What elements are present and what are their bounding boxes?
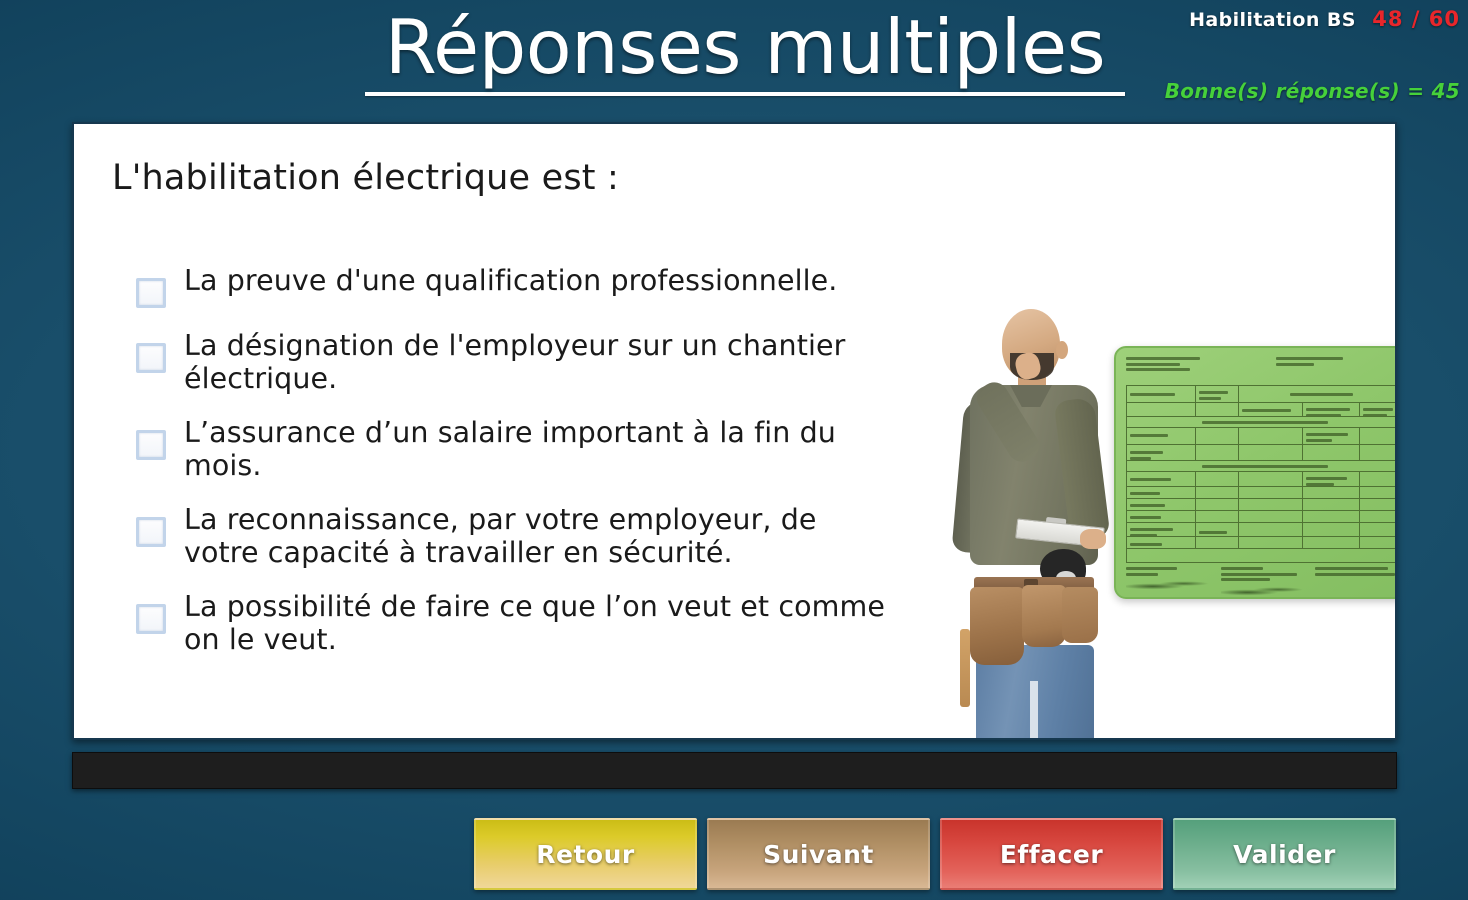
retour-button[interactable]: Retour bbox=[474, 818, 697, 890]
option-checkbox-4[interactable] bbox=[136, 517, 166, 547]
question-text: L'habilitation électrique est : bbox=[112, 158, 619, 198]
option-label-3: L’assurance d’un salaire important à la … bbox=[184, 416, 896, 482]
page-title: Réponses multiples bbox=[330, 4, 1160, 90]
option-label-4: La reconnaissance, par votre employeur, … bbox=[184, 503, 896, 569]
habilitation-card bbox=[1114, 346, 1397, 599]
option-checkbox-5[interactable] bbox=[136, 604, 166, 634]
button-bar: Retour Suivant Effacer Valider bbox=[474, 818, 1396, 890]
signature-left bbox=[1126, 578, 1215, 592]
header: Réponses multiples Habilitation BS 48 / … bbox=[0, 0, 1468, 118]
person-hand-clipboard bbox=[1080, 529, 1106, 549]
option-checkbox-1[interactable] bbox=[136, 278, 166, 308]
option-checkbox-2[interactable] bbox=[136, 343, 166, 373]
effacer-button[interactable]: Effacer bbox=[940, 818, 1163, 890]
module-score-line: Habilitation BS 48 / 60 bbox=[1130, 6, 1460, 35]
good-answers-label: Bonne(s) réponse(s) = 45 bbox=[1130, 79, 1460, 103]
tool-pouch-right bbox=[1062, 587, 1098, 643]
card-table bbox=[1126, 385, 1397, 563]
option-row-2[interactable]: La désignation de l'employeur sur un cha… bbox=[136, 329, 896, 395]
option-checkbox-3[interactable] bbox=[136, 430, 166, 460]
feedback-bar bbox=[72, 752, 1397, 789]
question-panel: L'habilitation électrique est : La preuv… bbox=[72, 122, 1397, 740]
header-status: Habilitation BS 48 / 60 Bonne(s) réponse… bbox=[1130, 6, 1460, 103]
option-row-1[interactable]: La preuve d'une qualification profession… bbox=[136, 264, 896, 308]
suivant-button[interactable]: Suivant bbox=[707, 818, 930, 890]
tool-pouch-center bbox=[1022, 585, 1066, 647]
title-underline bbox=[365, 92, 1125, 96]
tool-pouch-left bbox=[970, 587, 1024, 665]
card-footer bbox=[1126, 567, 1397, 601]
card-header bbox=[1126, 357, 1397, 385]
hand-tool bbox=[960, 629, 970, 707]
option-label-1: La preuve d'une qualification profession… bbox=[184, 264, 837, 297]
page-title-wrap: Réponses multiples bbox=[330, 4, 1160, 96]
illustration bbox=[904, 124, 1397, 738]
option-row-4[interactable]: La reconnaissance, par votre employeur, … bbox=[136, 503, 896, 569]
option-row-5[interactable]: La possibilité de faire ce que l’on veut… bbox=[136, 590, 896, 656]
signature-center bbox=[1221, 584, 1310, 598]
module-label: Habilitation BS bbox=[1189, 9, 1356, 31]
options-list: La preuve d'une qualification profession… bbox=[136, 264, 896, 677]
quiz-screen: Réponses multiples Habilitation BS 48 / … bbox=[0, 0, 1468, 900]
option-row-3[interactable]: L’assurance d’un salaire important à la … bbox=[136, 416, 896, 482]
option-label-2: La désignation de l'employeur sur un cha… bbox=[184, 329, 896, 395]
person-ear bbox=[1056, 341, 1068, 359]
option-label-5: La possibilité de faire ce que l’on veut… bbox=[184, 590, 896, 656]
score-badge: 48 / 60 bbox=[1372, 7, 1460, 31]
valider-button[interactable]: Valider bbox=[1173, 818, 1396, 890]
person-leg-gap bbox=[1030, 681, 1038, 740]
